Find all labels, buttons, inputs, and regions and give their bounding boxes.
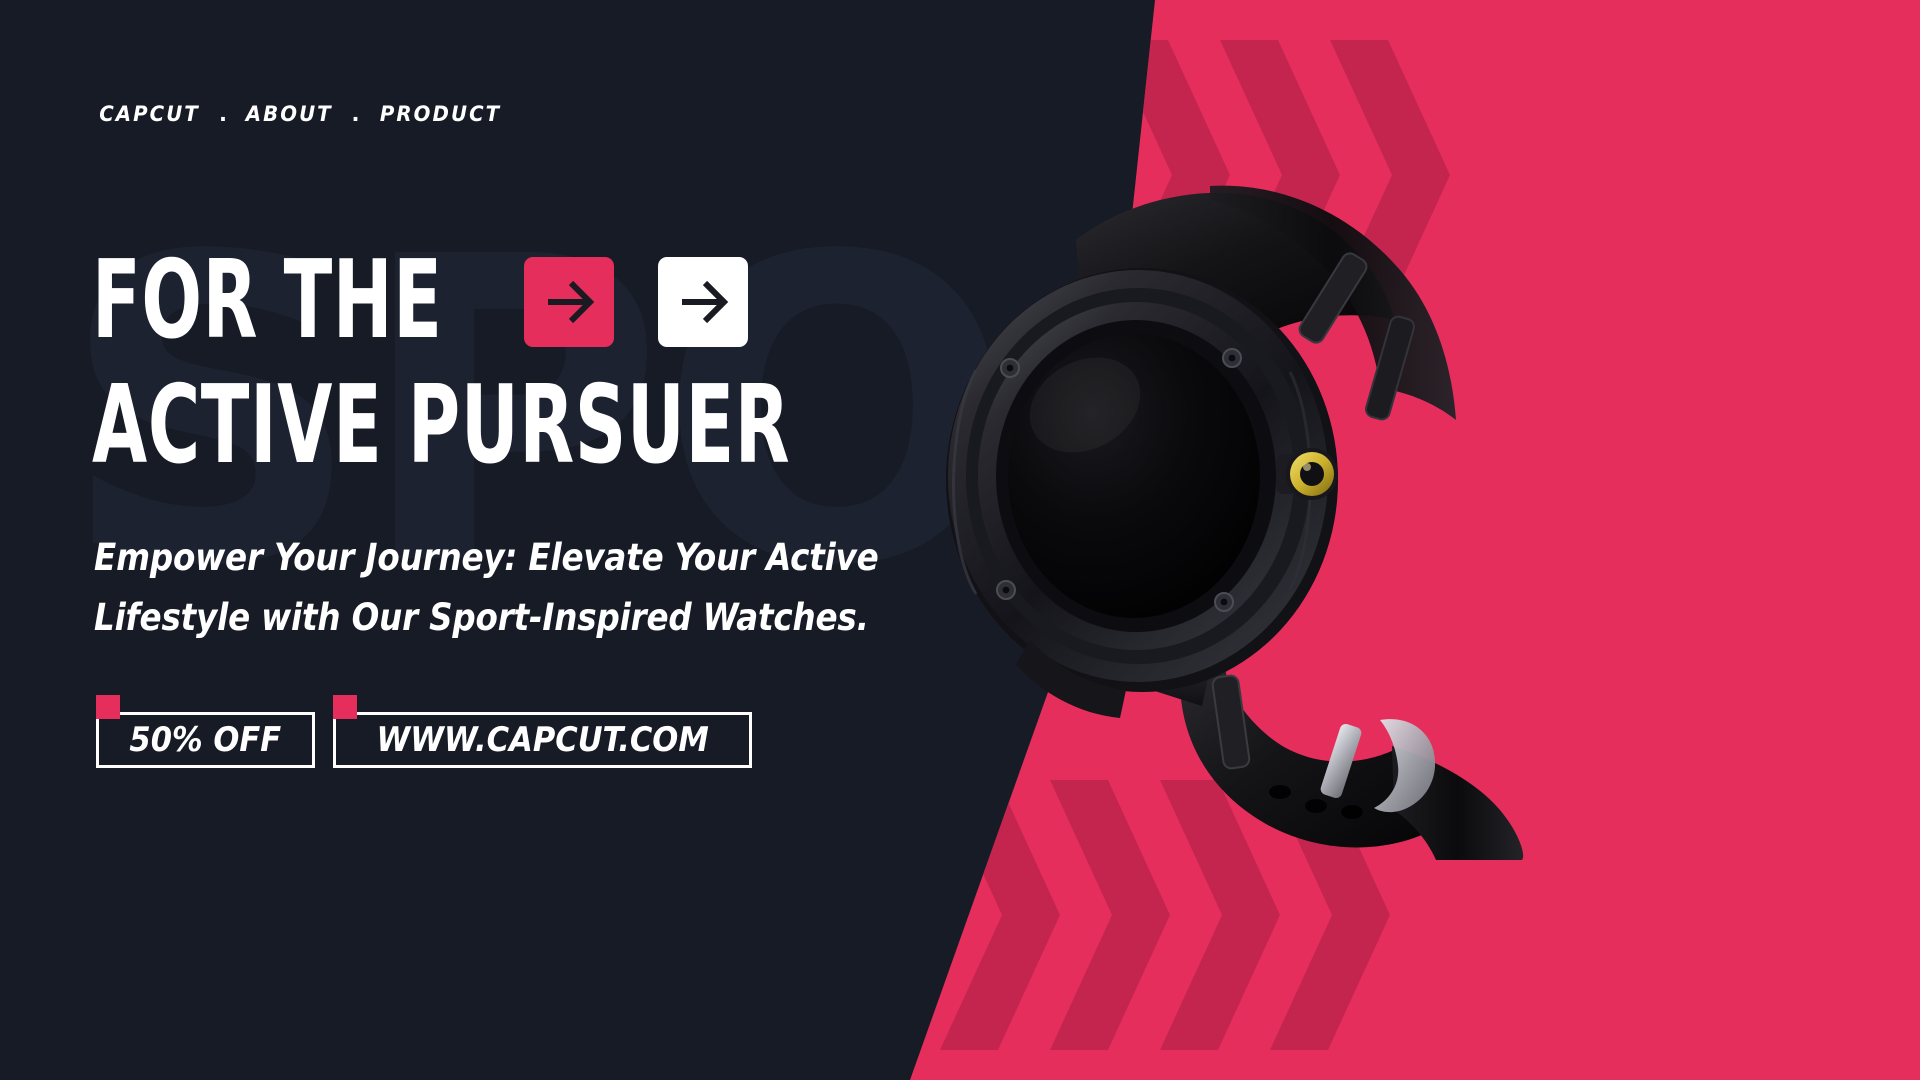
subtitle-line-1: Empower Your Journey: Elevate Your Activ… <box>94 528 879 588</box>
discount-badge[interactable]: 50% OFF <box>96 712 315 768</box>
cta-arrow-button-group <box>524 257 748 347</box>
footer-badge-group: 50% OFF WWW.CAPCUT.COM <box>96 712 752 768</box>
website-badge-label: WWW.CAPCUT.COM <box>376 720 708 760</box>
arrow-button-secondary[interactable] <box>658 257 748 347</box>
crown-highlight <box>1303 463 1311 471</box>
corner-square-accent <box>333 695 357 719</box>
arrow-right-icon <box>675 274 731 330</box>
subtitle-block: Empower Your Journey: Elevate Your Activ… <box>94 528 986 648</box>
banner-stage: SPO CAPCUT . ABOUT . PRODUCT FOR THE ACT… <box>0 0 1920 1080</box>
headline-line-2: ACTIVE PURSUER <box>92 375 790 478</box>
corner-square-accent <box>96 695 120 719</box>
bezel-screw-slot <box>1003 587 1010 594</box>
nav-separator: . <box>336 102 376 126</box>
nav-item-product[interactable]: PRODUCT <box>379 102 500 126</box>
top-navigation: CAPCUT . ABOUT . PRODUCT <box>96 102 505 126</box>
website-badge[interactable]: WWW.CAPCUT.COM <box>333 712 752 768</box>
subtitle-line-2: Lifestyle with Our Sport-Inspired Watche… <box>94 588 879 648</box>
product-image-smartwatch <box>880 120 1580 860</box>
arrow-button-primary[interactable] <box>524 257 614 347</box>
strap-hole <box>1305 799 1327 813</box>
bezel-screw-slot <box>1229 355 1236 362</box>
arrow-right-icon <box>541 274 597 330</box>
strap-hole <box>1341 805 1363 819</box>
nav-item-capcut[interactable]: CAPCUT <box>99 102 200 126</box>
strap-hole <box>1269 785 1291 799</box>
watch-crown-button <box>1276 448 1338 500</box>
discount-badge-label: 50% OFF <box>129 720 281 760</box>
nav-separator: . <box>203 102 243 126</box>
nav-item-about[interactable]: ABOUT <box>246 102 333 126</box>
bezel-screw-slot <box>1221 599 1228 606</box>
